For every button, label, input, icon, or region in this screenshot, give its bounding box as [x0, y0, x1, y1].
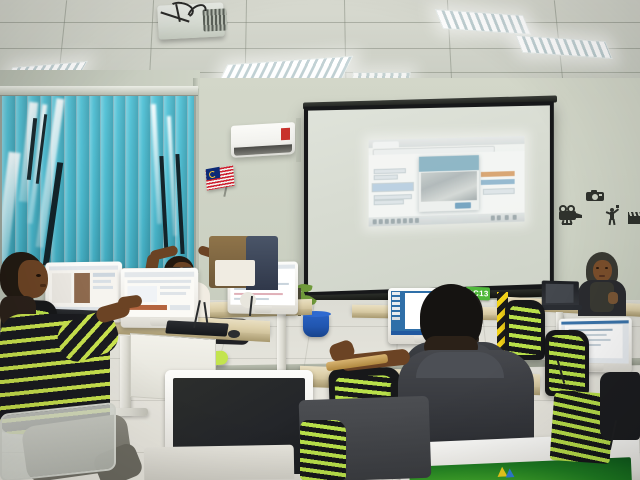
mouse[interactable]: [228, 330, 240, 338]
desk-leg: [277, 312, 286, 374]
browser-page-body: [369, 151, 525, 218]
chair-mesh: [549, 335, 585, 391]
modal-image: [421, 171, 477, 202]
chair-back-far-right[interactable]: [600, 372, 640, 440]
modal-header: [419, 155, 479, 172]
projected-browser-window: [369, 136, 525, 227]
ceiling-grid-line: [0, 22, 640, 23]
air-conditioner-badge: [281, 128, 290, 141]
back-paper: [215, 260, 255, 286]
laptop-right-screen: [546, 284, 574, 304]
desk-speaker: [240, 292, 256, 308]
ac-pipe: [296, 118, 301, 162]
vertical-blinds[interactable]: [2, 94, 194, 268]
clapperboard-icon: [628, 212, 640, 224]
chair-mesh: [300, 420, 346, 480]
photographer-icon: [605, 205, 619, 225]
browser-tab: [373, 141, 399, 148]
desk-front-edge: [144, 445, 295, 480]
modal-primary-button: [455, 202, 471, 208]
glass-panel: [0, 402, 116, 480]
photo-camera-icon: [586, 190, 604, 201]
classroom-photo: PC13: [0, 0, 640, 480]
projected-modal-dialog: [419, 155, 479, 212]
blind-rail: [0, 86, 198, 96]
movie-camera-icon: [557, 205, 583, 223]
